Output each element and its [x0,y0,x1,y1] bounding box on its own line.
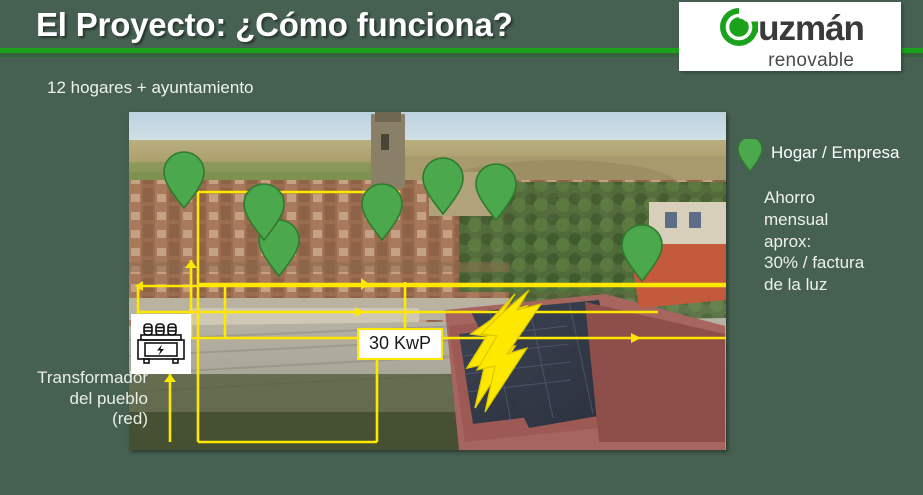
photo-canvas [129,112,726,450]
map-pin-icon [737,139,763,177]
legend-line-2: mensual [764,209,923,231]
brand-logo: uzmán renovable [679,2,901,71]
aerial-village-photo [129,112,726,450]
transformer-caption-line2: del pueblo [0,389,148,410]
green-circle-g-icon [716,4,762,54]
legend-line-5: de la luz [764,274,923,296]
legend-line-4: 30% / factura [764,252,923,274]
legend-body: Ahorro mensual aprox: 30% / factura de l… [764,187,923,296]
transformer-caption: Transformador del pueblo (red) [0,368,148,430]
logo-tagline: renovable [768,51,854,70]
legend-line-1: Ahorro [764,187,923,209]
legend-line-3: aprox: [764,231,923,253]
legend-title: Hogar / Empresa [771,143,900,163]
transformer-caption-line3: (red) [0,409,148,430]
slide-subtitle: 12 hogares + ayuntamiento [47,78,254,98]
slide-root: El Proyecto: ¿Cómo funciona? uzmán renov… [0,0,923,495]
transformer-icon [131,314,191,374]
kwp-callout: 30 KwP [357,328,443,360]
logo-wordmark: uzmán [758,11,864,46]
page-title: El Proyecto: ¿Cómo funciona? [36,6,513,44]
legend: Hogar / Empresa Ahorro mensual aprox: 30… [737,137,923,296]
transformer-caption-line1: Transformador [0,368,148,389]
